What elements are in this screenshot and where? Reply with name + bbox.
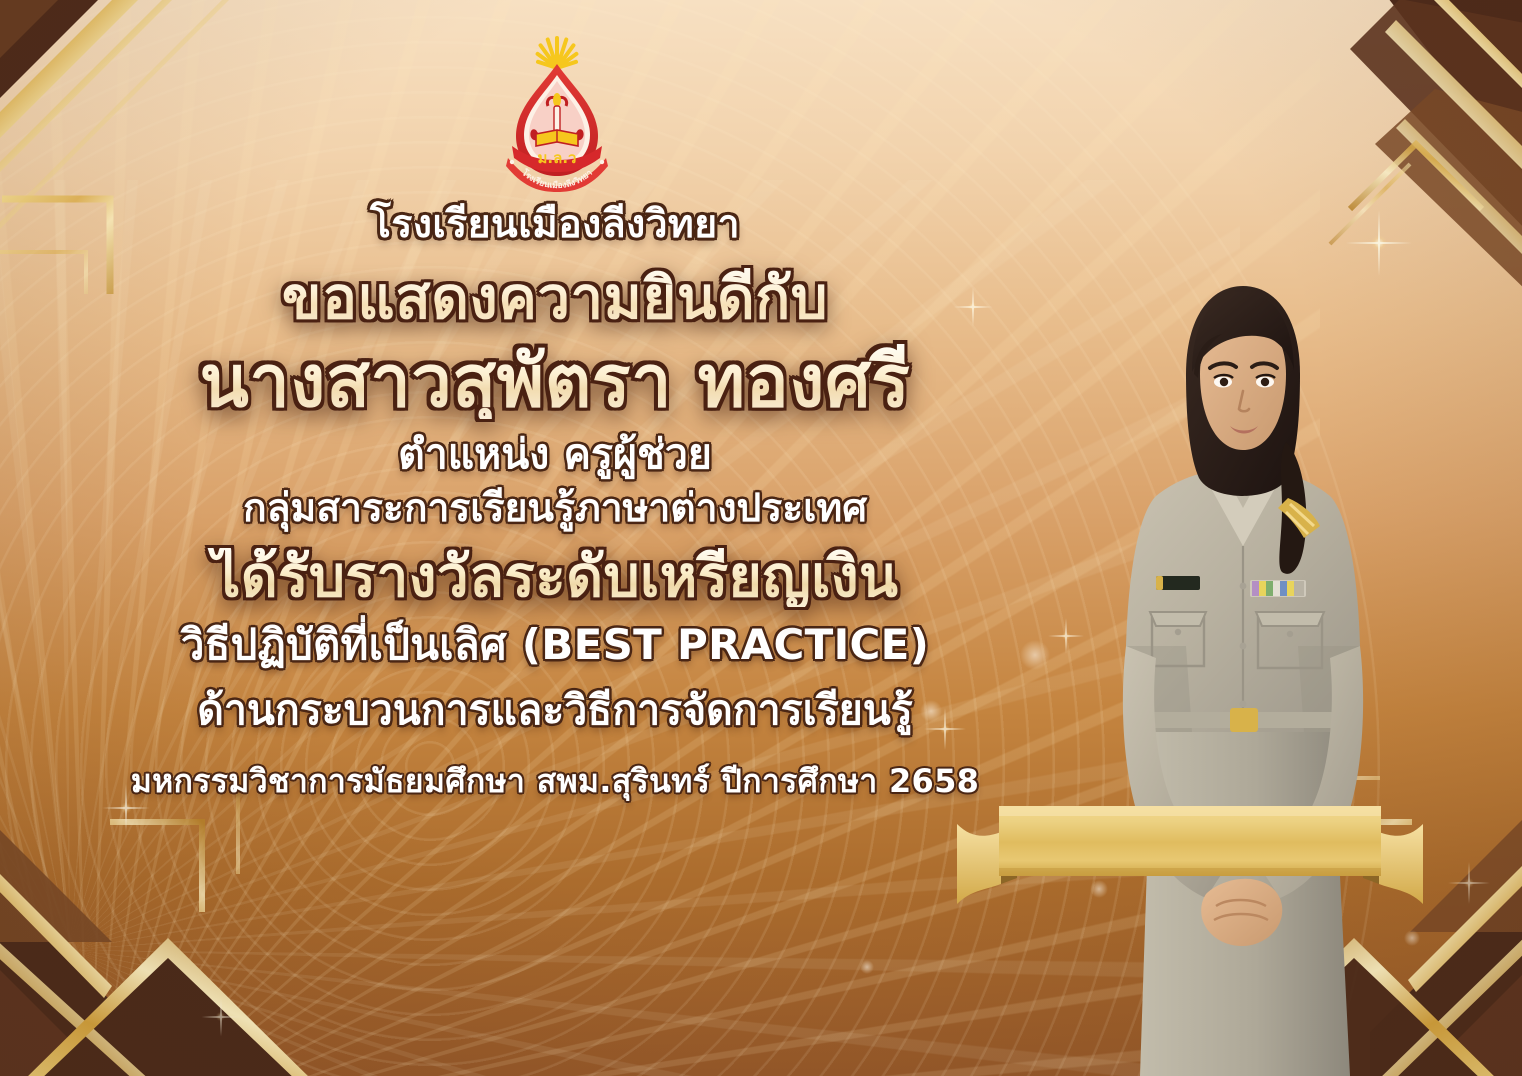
recipient-position: ตำแหน่ง ครูผู้ช่วย bbox=[0, 433, 1110, 476]
sparkle-decor bbox=[118, 800, 134, 816]
sparkle-decor bbox=[1462, 876, 1476, 890]
svg-text:ม.ล.ว: ม.ล.ว bbox=[538, 149, 577, 167]
recipient-department: กลุ่มสาระการเรียนรู้ภาษาต่างประเทศ bbox=[0, 489, 1110, 530]
school-crest-logo: ม.ล.ว โรงเรียนเมืองลีงวิทยา bbox=[496, 34, 618, 194]
gold-ribbon-banner bbox=[955, 792, 1425, 904]
poster-text-column: โรงเรียนเมืองลีงวิทยา ขอแสดงความยินดีกับ… bbox=[0, 205, 1110, 799]
award-title: ได้รับรางวัลระดับเหรียญเงิน bbox=[0, 548, 1110, 607]
award-category: วิธีปฏิบัติที่เป็นเลิศ (BEST PRACTICE) bbox=[0, 623, 1110, 667]
school-name: โรงเรียนเมืองลีงวิทยา bbox=[0, 205, 1110, 246]
event-name: มหกรรมวิชาการมัธยมศึกษา สพม.สุรินทร์ ปีก… bbox=[0, 765, 1110, 798]
congratulation-poster: ม.ล.ว โรงเรียนเมืองลีงวิทยา bbox=[0, 0, 1522, 1076]
congratulations-heading: ขอแสดงความยินดีกับ bbox=[0, 268, 1110, 328]
award-aspect: ด้านกระบวนการและวิธีการจัดการเรียนรู้ bbox=[0, 689, 1110, 732]
sparkle-decor bbox=[214, 1010, 227, 1023]
award-recipient-portrait bbox=[1082, 246, 1412, 1076]
recipient-name: นางสาวสุพัตรา ทองศรี bbox=[0, 344, 1110, 419]
corner-chevron-bottom-left bbox=[0, 762, 322, 1076]
bokeh-decor bbox=[860, 960, 874, 974]
